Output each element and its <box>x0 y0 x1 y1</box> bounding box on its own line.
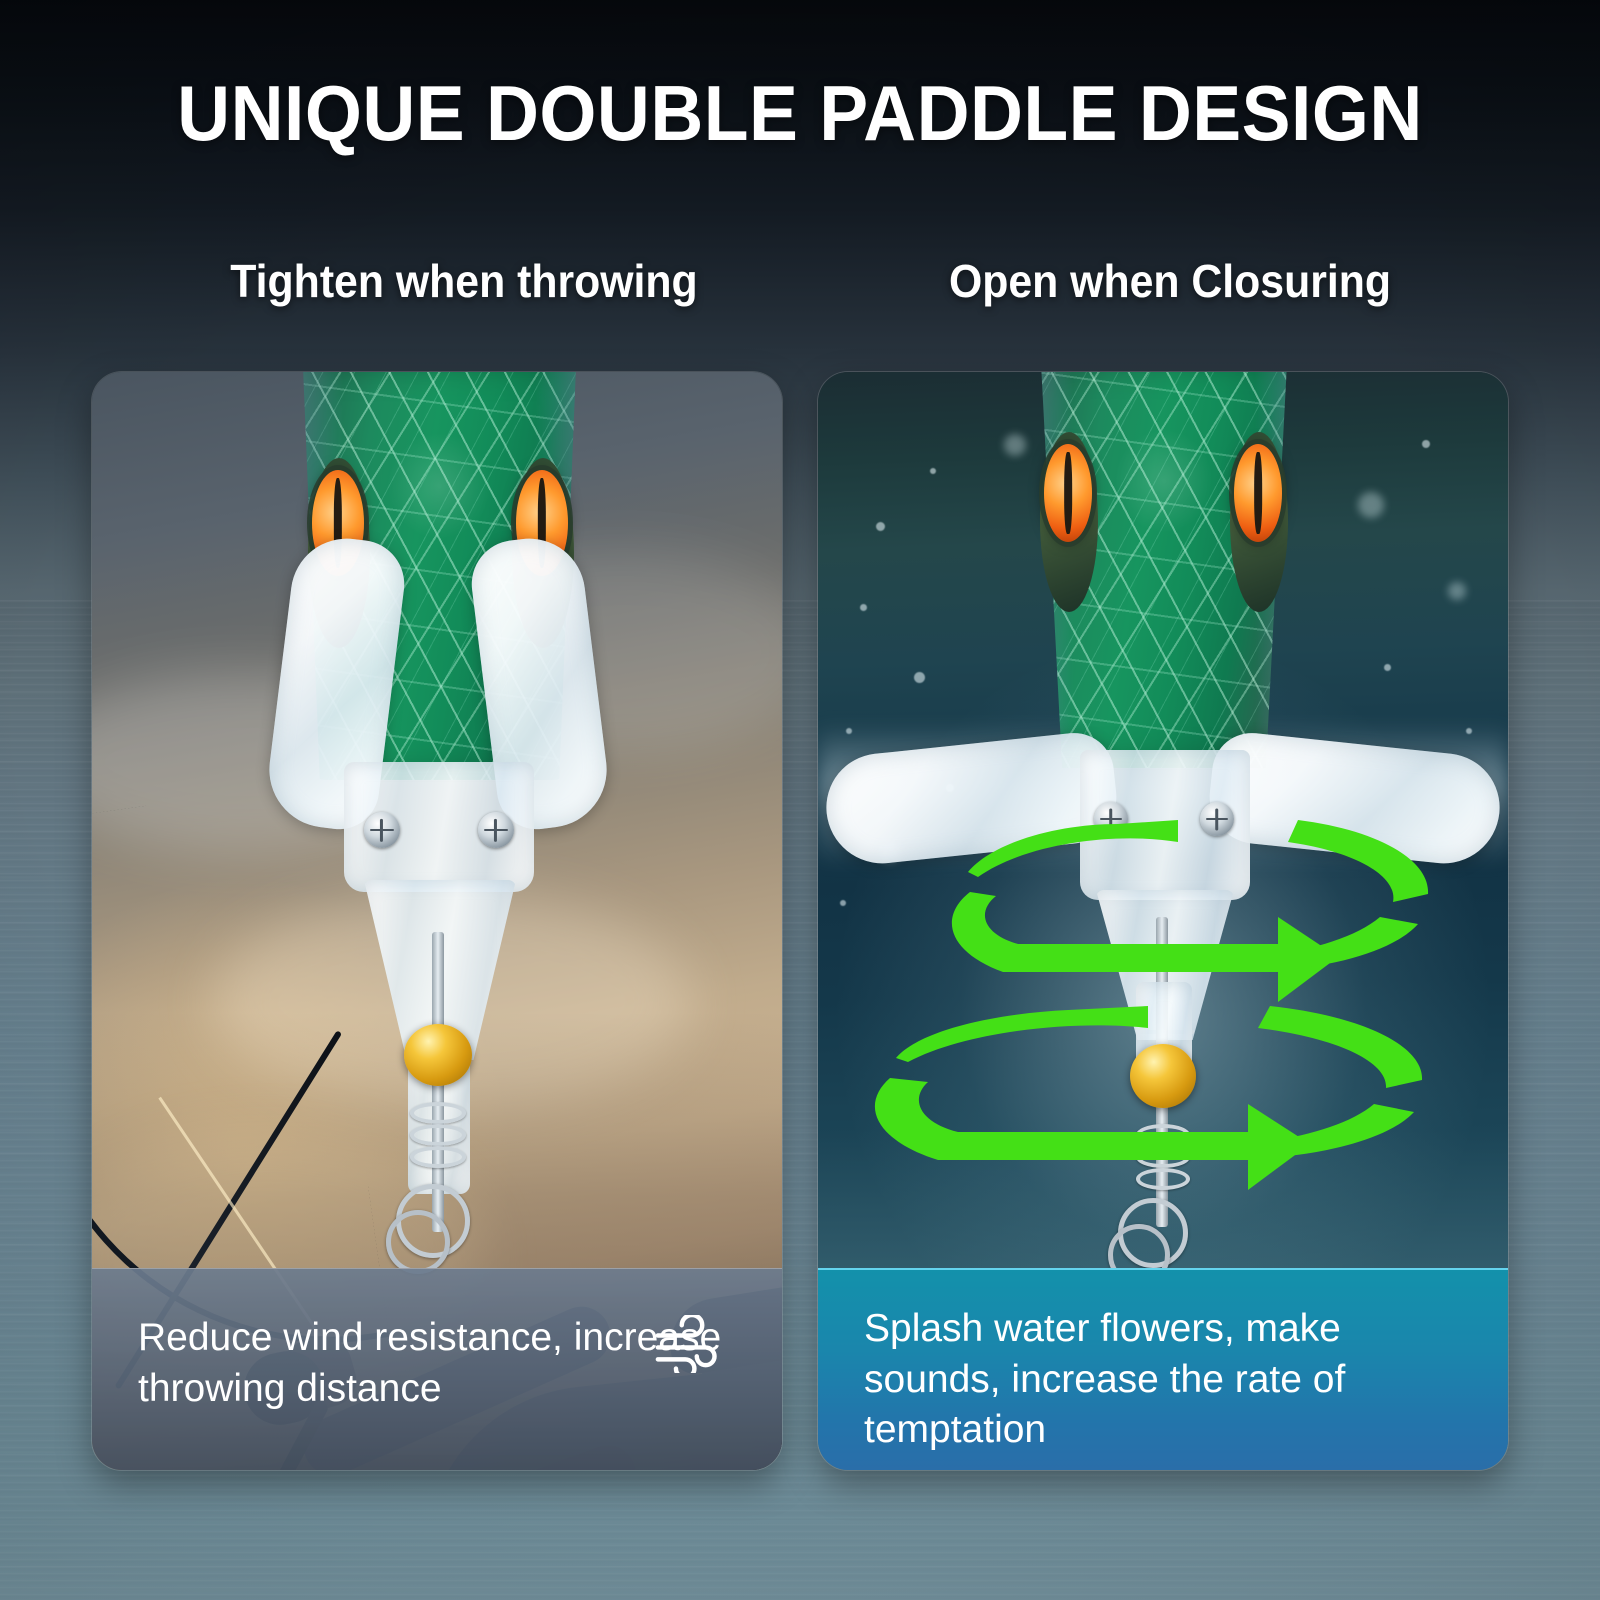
lure-wire-coil-1 <box>410 1102 466 1124</box>
lure-bead-gold <box>1130 1044 1196 1108</box>
panel-left-subtitle: Tighten when throwing <box>163 258 766 304</box>
lure-screw-left <box>364 812 400 848</box>
infographic-page: UNIQUE DOUBLE PADDLE DESIGN Tighten when… <box>0 0 1600 1600</box>
lure-wire-coil-3 <box>1136 1168 1190 1190</box>
wind-icon <box>654 1315 730 1373</box>
lure-wire-coil-1 <box>1136 1124 1190 1146</box>
panel-right-caption: Splash water flowers, make sounds, incre… <box>818 1268 1508 1470</box>
lure-wire-coil-2 <box>410 1124 466 1146</box>
panel-left-caption: Reduce wind resistance, increase throwin… <box>92 1268 782 1470</box>
lure-wire-coil-2 <box>1136 1146 1190 1168</box>
lure-paddle-left-open <box>821 729 1121 869</box>
panel-right-caption-text: Splash water flowers, make sounds, incre… <box>864 1307 1345 1451</box>
lure-screw-right <box>1200 802 1234 836</box>
page-title: UNIQUE DOUBLE PADDLE DESIGN <box>48 74 1552 152</box>
lure-screw-right <box>478 812 514 848</box>
lure-screw-left <box>1094 802 1128 836</box>
lure-bead-gold <box>404 1024 472 1086</box>
panel-left-card: Reduce wind resistance, increase throwin… <box>92 372 782 1470</box>
lure-eye-left <box>1044 444 1092 542</box>
panel-right-subtitle: Open when Closuring <box>891 258 1449 304</box>
lure-split-ring-2 <box>386 1210 450 1274</box>
lure-eye-right <box>1234 444 1282 542</box>
panel-right-card: Splash water flowers, make sounds, incre… <box>818 372 1508 1470</box>
panel-left-caption-text: Reduce wind resistance, increase throwin… <box>138 1316 721 1410</box>
lure-paddle-right-open <box>1205 729 1505 869</box>
lure-wire-coil-3 <box>410 1146 466 1168</box>
